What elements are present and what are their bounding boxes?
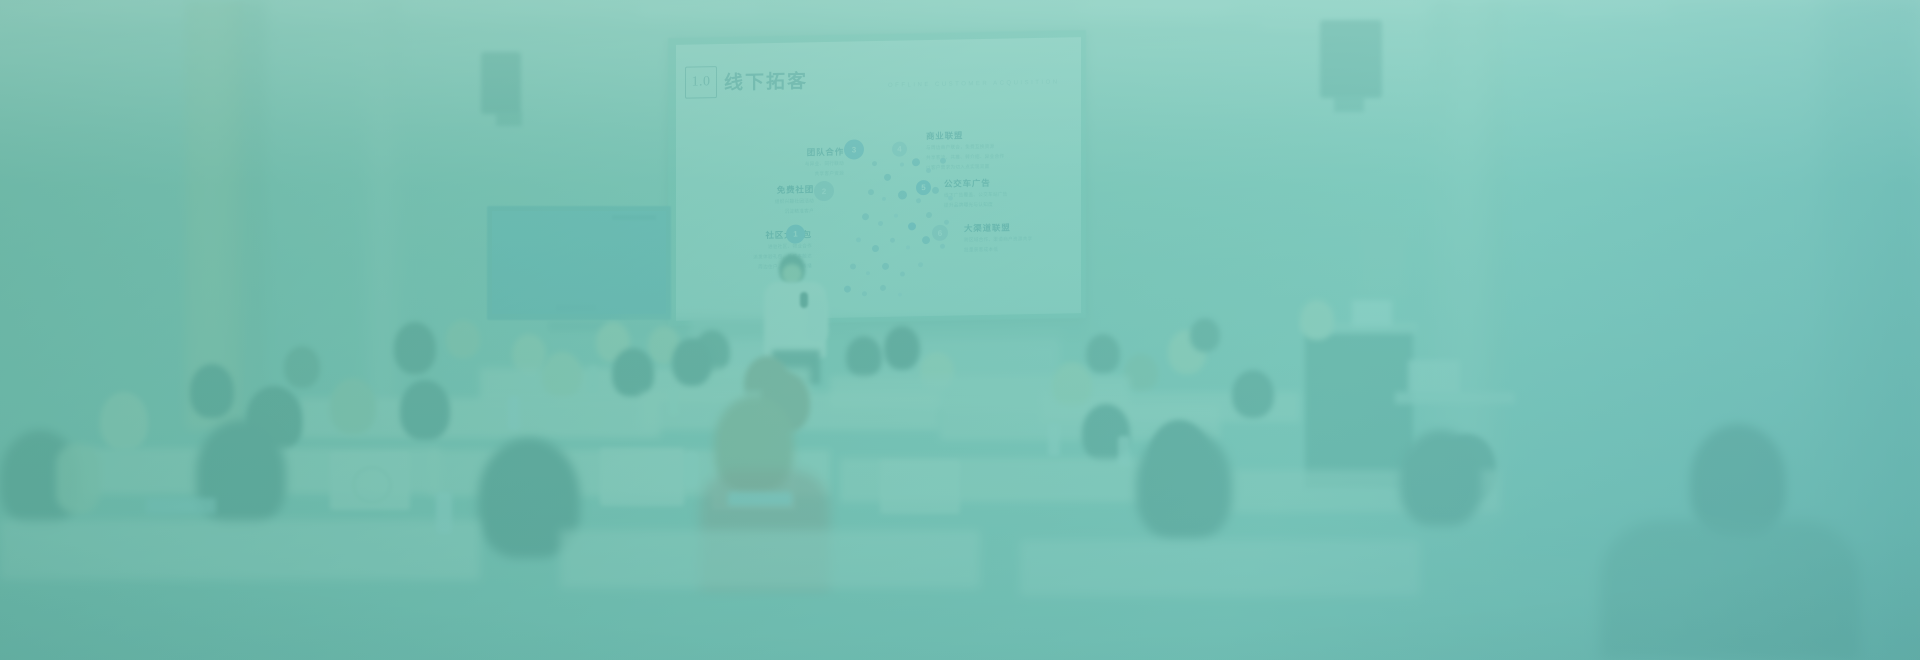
vignette <box>0 0 1920 660</box>
hero-banner: 1.0 线下拓客 OFFLINE CUSTOMER ACQUISITION 团队… <box>0 0 1920 660</box>
